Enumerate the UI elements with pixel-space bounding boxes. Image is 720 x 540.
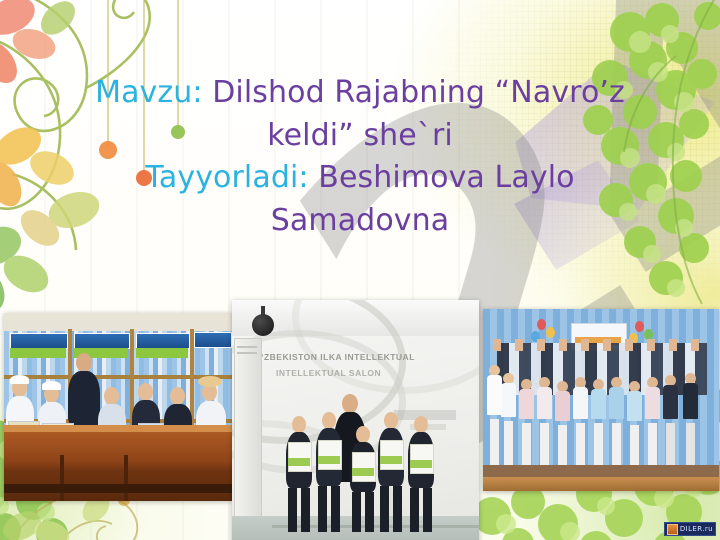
title-text-1: Dilshod Rajabning “Navro’z <box>203 75 625 110</box>
title-line-2: keldi” she`ri <box>60 115 660 158</box>
photo-library <box>4 313 232 501</box>
presentation-slide: 24 <box>0 0 720 540</box>
title-keyword-tayyorladi: Tayyorladi: <box>145 160 308 195</box>
slide-title: Mavzu: Dilshod Rajabning “Navro’z keldi”… <box>60 72 660 242</box>
title-line-1: Mavzu: Dilshod Rajabning “Navro’z <box>60 72 660 115</box>
awards-banner-line-1: O‘ZBEKISTON ILKA INTELLEKTUAL <box>254 352 415 362</box>
photo-assembly <box>483 309 719 491</box>
title-text-4: Samadovna <box>271 203 449 238</box>
photo-awards: O‘ZBEKISTON ILKA INTELLEKTUAL INTELLEKTU… <box>232 300 479 540</box>
briefcase-icon <box>667 524 678 535</box>
title-keyword-mavzu: Mavzu: <box>95 75 203 110</box>
source-badge[interactable]: DILER.ru <box>664 522 716 536</box>
title-line-3: Tayyorladi: Beshimova Laylo <box>60 157 660 200</box>
title-text-2: keldi” she`ri <box>267 118 453 153</box>
badge-label: DILER.ru <box>680 526 713 533</box>
title-line-4: Samadovna <box>60 200 660 243</box>
title-text-3: Beshimova Laylo <box>309 160 575 195</box>
awards-banner-line-2: INTELLEKTUAL SALON <box>276 368 381 378</box>
